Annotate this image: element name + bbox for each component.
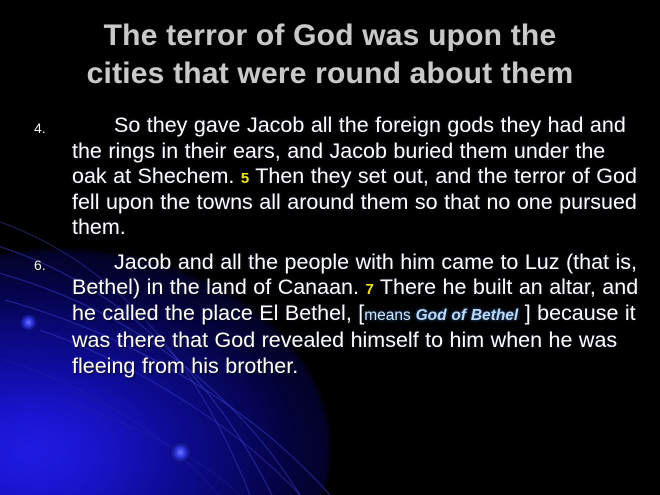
gloss-bracket-close: ] — [518, 301, 530, 325]
list-item: 6. Jacob and all the people with him cam… — [26, 250, 640, 380]
title-line-2: cities that were round about them — [0, 55, 660, 93]
list-item-marker: 6. — [34, 258, 46, 272]
list-item-marker: 4. — [34, 121, 46, 135]
body-text-block: 4. So they gave Jacob all the foreign go… — [26, 113, 640, 388]
list-item: 4. So they gave Jacob all the foreign go… — [26, 113, 640, 241]
page-title: The terror of God was upon the cities th… — [0, 17, 660, 93]
presentation-slide: The terror of God was upon the cities th… — [0, 0, 660, 495]
verse-number: 5 — [241, 170, 249, 187]
title-line-1: The terror of God was upon the — [0, 17, 660, 55]
verse-number: 7 — [365, 281, 373, 298]
list-item-text: So they gave Jacob all the foreign gods … — [72, 113, 640, 241]
slide-content: The terror of God was upon the cities th… — [0, 0, 660, 495]
gloss-meaning: God of Bethel — [416, 307, 519, 324]
list-item-text: Jacob and all the people with him came t… — [72, 250, 640, 380]
gloss-label: means — [364, 307, 415, 324]
